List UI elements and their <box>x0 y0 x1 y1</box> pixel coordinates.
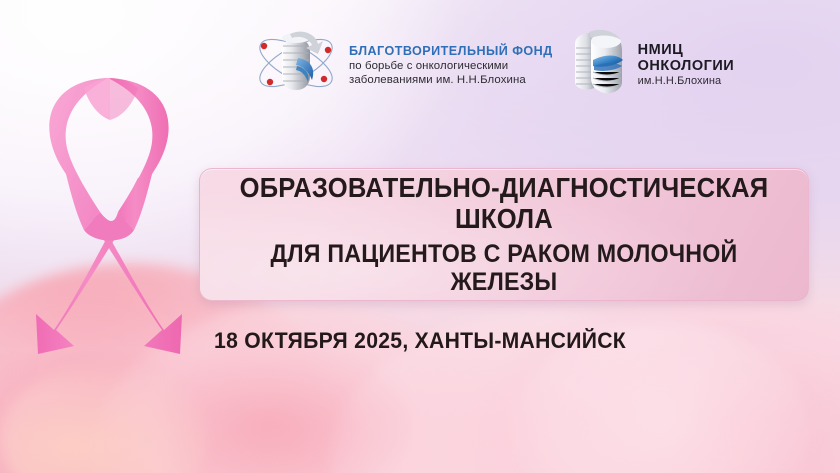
title-line-1: ОБРАЗОВАТЕЛЬНО-ДИАГНОСТИЧЕСКАЯ ШКОЛА <box>221 173 786 234</box>
nmic-logo-line3: им.Н.Н.Блохина <box>638 76 735 87</box>
header-logos: БЛАГОТВОРИТЕЛЬНЫЙ ФОНД по борьбе с онкол… <box>252 24 734 107</box>
fund-logo: БЛАГОТВОРИТЕЛЬНЫЙ ФОНД по борьбе с онкол… <box>252 24 553 107</box>
stacked-cylinder-swoosh-icon <box>567 26 629 105</box>
event-poster: БЛАГОТВОРИТЕЛЬНЫЙ ФОНД по борьбе с онкол… <box>0 0 840 473</box>
nmic-logo-line2: ОНКОЛОГИИ <box>638 59 735 74</box>
event-date-location: 18 ОКТЯБРЯ 2025, ХАНТЫ-МАНСИЙСК <box>25 328 815 354</box>
nmic-logo: НМИЦ ОНКОЛОГИИ им.Н.Н.Блохина <box>567 26 735 105</box>
dna-orbit-stacked-column-icon <box>252 24 340 107</box>
fund-logo-title: БЛАГОТВОРИТЕЛЬНЫЙ ФОНД <box>349 45 553 59</box>
title-line-2: ДЛЯ ПАЦИЕНТОВ С РАКОМ МОЛОЧНОЙ ЖЕЛЕЗЫ <box>221 240 786 296</box>
fund-logo-subtitle-line2: заболеваниями им. Н.Н.Блохина <box>349 74 553 86</box>
nmic-logo-line1: НМИЦ <box>638 43 735 58</box>
fund-logo-subtitle-line1: по борьбе с онкологическими <box>349 60 553 72</box>
title-plate: ОБРАЗОВАТЕЛЬНО-ДИАГНОСТИЧЕСКАЯ ШКОЛА ДЛЯ… <box>199 168 809 301</box>
